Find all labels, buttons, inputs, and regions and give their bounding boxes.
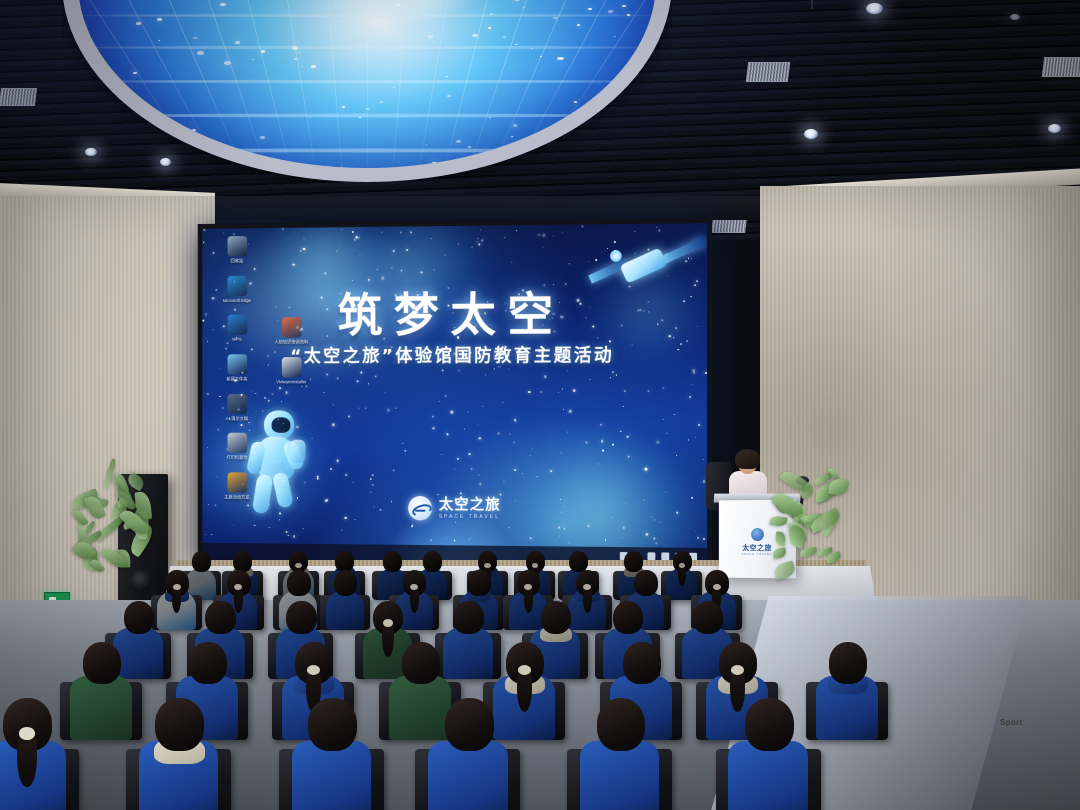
star-point (625, 502, 626, 503)
space-travel-logo-icon (408, 495, 432, 520)
star-point (254, 452, 255, 453)
star-point (365, 408, 366, 409)
star-point (205, 534, 206, 535)
star-point (293, 535, 295, 537)
star-point (673, 337, 674, 338)
star-point (203, 320, 205, 322)
dome-light-point (292, 46, 298, 49)
audience-member (134, 690, 224, 810)
dome-light-point (124, 143, 128, 145)
star-point (645, 468, 647, 470)
potted-plant-stage (770, 470, 840, 580)
microsoft-edge-icon[interactable] (227, 275, 247, 295)
star-point (648, 249, 650, 251)
recycle-bin-icon[interactable] (227, 236, 247, 257)
star-point (340, 327, 342, 329)
star-point (355, 519, 356, 520)
star-point (274, 384, 275, 385)
star-point (634, 231, 635, 232)
dome-light-point (445, 76, 447, 77)
dome-light-point (125, 141, 130, 144)
hair-tie (518, 665, 531, 675)
star-point (689, 396, 691, 398)
star-point (370, 492, 371, 493)
star-point (288, 535, 289, 536)
dome-light-point (342, 106, 345, 108)
star-point (690, 296, 692, 298)
desktop-icon[interactable]: 打印机驱动 (210, 433, 264, 461)
star-point (510, 307, 512, 309)
star-point (249, 282, 251, 284)
star-point (469, 453, 471, 455)
star-point (446, 433, 448, 435)
star-point (234, 379, 236, 381)
star-point (640, 309, 641, 310)
star-point (479, 483, 481, 485)
astronaut-backpack (290, 440, 305, 463)
star-point (622, 537, 623, 538)
star-point (684, 300, 686, 302)
star-point (468, 411, 470, 413)
audience-head (623, 642, 661, 684)
star-point (612, 444, 614, 446)
star-point (401, 362, 402, 363)
star-point (565, 283, 567, 285)
star-point (393, 250, 395, 252)
star-point (657, 324, 658, 325)
star-point (454, 352, 456, 354)
audience-head (205, 601, 235, 635)
desktop-icons-column-2[interactable]: 人防知识培训资料VMwareInstaller (264, 317, 322, 396)
star-point (589, 379, 591, 381)
dome-light-point (531, 48, 533, 49)
plant-leaf (772, 561, 796, 581)
dome-light-point (158, 40, 160, 41)
star-point (355, 236, 357, 238)
star-point (595, 259, 596, 260)
star-point (430, 539, 432, 541)
logo-text-cn: 太空之旅 (439, 497, 501, 512)
star-point (579, 303, 581, 305)
star-point (504, 237, 505, 238)
star-point (444, 395, 446, 397)
star-point (324, 272, 326, 274)
star-point (372, 475, 374, 477)
star-point (432, 416, 434, 418)
hair-tie (173, 584, 181, 590)
ceiling-spotlight (1010, 14, 1020, 20)
star-point (262, 411, 263, 412)
star-point (528, 391, 530, 393)
star-point (646, 533, 648, 535)
star-point (264, 447, 265, 448)
hair-tie (383, 619, 393, 627)
dome-light-point (633, 143, 636, 144)
star-point (339, 292, 341, 294)
star-point (332, 423, 334, 425)
desktop-icon[interactable]: 新建文件夹 (210, 354, 264, 382)
star-point (352, 482, 353, 483)
settings-icon[interactable] (281, 357, 301, 377)
star-point (354, 239, 355, 240)
dome-light-point (488, 27, 491, 28)
star-point (454, 540, 455, 541)
star-point (558, 526, 560, 528)
star-point (423, 315, 424, 316)
star-point (368, 383, 369, 384)
dome-light-point (261, 50, 266, 53)
desktop-icon-label: 回收站 (210, 258, 264, 264)
star-point (338, 248, 339, 249)
star-point (398, 354, 400, 356)
star-point (663, 419, 664, 420)
star-point (237, 408, 239, 410)
hair-tie (713, 584, 721, 590)
dome-light-point (472, 34, 478, 37)
star-point (614, 241, 616, 243)
screen-brand-logo: 太空之旅 SPACE TRAVEL (408, 493, 512, 523)
star-point (698, 424, 700, 426)
star-point (558, 392, 559, 393)
star-point (691, 384, 692, 385)
dome-light-point (577, 24, 580, 26)
plant-leaf (799, 547, 817, 557)
dome-light-point (80, 134, 83, 136)
audience-member (575, 690, 665, 810)
presenter-hair (735, 449, 760, 469)
star-point (514, 469, 516, 471)
dome-light-point (83, 26, 87, 28)
dome-longitude-line (391, 0, 426, 168)
star-point (508, 369, 509, 370)
star-point (475, 348, 476, 350)
star-point (616, 374, 618, 376)
star-point (674, 414, 675, 415)
star-point (445, 537, 446, 538)
star-point (323, 392, 324, 393)
star-point (236, 337, 237, 338)
star-point (688, 439, 690, 441)
document-icon[interactable] (227, 472, 247, 492)
star-point (303, 248, 305, 250)
dome-light-point (553, 17, 557, 19)
star-point (251, 349, 253, 351)
star-point (667, 275, 668, 276)
star-point (695, 437, 696, 438)
star-point (569, 410, 571, 412)
star-point (387, 409, 389, 411)
desktop-icon[interactable]: AI-演示文稿 (210, 394, 264, 422)
ceiling-spotlight (804, 129, 818, 139)
star-point (643, 310, 644, 311)
star-point (296, 326, 298, 328)
hair-tie (19, 727, 36, 740)
star-point (661, 319, 663, 321)
star-point (482, 405, 483, 406)
audience-body (292, 741, 371, 810)
star-point (612, 372, 614, 374)
dome-latitude-line (78, 46, 656, 49)
dome-light-point (152, 117, 158, 120)
dome-light-point (613, 36, 616, 38)
star-point (269, 504, 270, 505)
dome-light-point (192, 129, 196, 131)
astronaut-visor (272, 417, 291, 433)
dome-latitude-line (78, 149, 656, 153)
star-point (531, 448, 532, 449)
led-display-screen[interactable]: 筑梦太空 “太空之旅”体验馆国防教育主题活动 太空之旅 SPACE TRAVEL… (198, 218, 712, 570)
star-point (694, 284, 696, 286)
star-point (279, 387, 281, 389)
star-point (705, 372, 707, 374)
star-point (306, 385, 307, 386)
desktop-icon-label: WPS (210, 337, 264, 343)
dome-light-point (301, 66, 303, 67)
star-point (544, 375, 546, 377)
dome-light-point (588, 8, 592, 10)
star-point (687, 340, 689, 342)
star-point (203, 229, 205, 231)
audience-head (745, 698, 794, 752)
dome-latitude-line (78, 80, 656, 83)
star-point (600, 424, 602, 426)
dome-light-point (573, 157, 577, 159)
audience-body (728, 741, 807, 810)
star-point (497, 432, 499, 434)
hvac-vent-grille (746, 62, 790, 82)
star-point (627, 436, 629, 438)
dome-light-point (260, 136, 265, 139)
star-point (281, 401, 282, 402)
star-point (685, 260, 687, 262)
star-point (353, 357, 354, 358)
star-point (662, 387, 664, 389)
star-point (417, 291, 418, 292)
audience-body (428, 741, 507, 810)
star-point (516, 230, 517, 231)
star-point (529, 537, 531, 539)
star-point (441, 454, 442, 455)
audience-head (829, 642, 867, 684)
audience-head (124, 601, 154, 635)
star-point (404, 450, 406, 452)
star-point (296, 426, 298, 429)
star-point (562, 388, 564, 390)
dome-light-point (602, 93, 604, 94)
desktop-icon[interactable]: Microsoft Edge (210, 275, 264, 303)
star-point (573, 389, 575, 391)
star-point (378, 353, 380, 355)
star-point (326, 501, 327, 502)
dome-light-point (235, 41, 240, 44)
dome-light-point (220, 3, 225, 6)
audience-head (402, 642, 440, 684)
folder-icon[interactable] (227, 354, 247, 374)
dome-light-point (197, 51, 203, 54)
star-point (563, 409, 564, 410)
audience-head (453, 601, 483, 635)
dome-longitude-line (250, 0, 319, 168)
hvac-vent-grille (0, 88, 37, 106)
star-point (553, 313, 555, 315)
audience-head (634, 570, 658, 596)
star-point (212, 252, 214, 254)
dome-light-point (511, 136, 513, 137)
star-point (302, 528, 303, 529)
star-point (514, 419, 516, 421)
star-point (326, 309, 328, 311)
dome-light-point (357, 21, 359, 22)
star-point (255, 393, 256, 394)
star-point (457, 458, 459, 460)
star-point (567, 370, 568, 371)
star-point (445, 254, 446, 255)
star-point (351, 279, 352, 280)
star-point (602, 450, 603, 451)
star-point (211, 534, 212, 535)
star-point (286, 531, 288, 533)
audience-head (445, 698, 494, 752)
star-point (372, 484, 374, 486)
audience-member (66, 636, 136, 756)
desktop-icon[interactable]: VMwareInstaller (264, 357, 319, 385)
star-point (478, 475, 479, 476)
star-point (346, 474, 348, 476)
potted-plant-left (68, 470, 148, 570)
star-point (358, 306, 360, 308)
star-point (400, 232, 401, 233)
dome-light-point (428, 35, 433, 38)
star-point (542, 325, 543, 326)
star-point (479, 437, 481, 439)
star-point (411, 526, 413, 528)
star-point (691, 497, 693, 499)
star-point (454, 468, 455, 469)
star-point (219, 368, 220, 369)
star-point (513, 441, 515, 443)
star-point (234, 281, 235, 282)
hvac-vent-grille (1042, 57, 1080, 77)
audience-head (155, 698, 204, 752)
star-point (442, 370, 444, 372)
desktop-icon[interactable]: 回收站 (210, 236, 264, 264)
dome-light-point (95, 149, 100, 152)
desktop-icon[interactable]: 人防知识培训资料 (264, 317, 319, 345)
star-point (393, 470, 395, 472)
star-point (402, 443, 403, 444)
star-point (485, 374, 486, 375)
hair-tie (307, 665, 320, 675)
star-point (432, 427, 434, 429)
star-point (376, 268, 378, 270)
star-point (464, 428, 465, 429)
logo-text-en: SPACE TRAVEL (439, 514, 501, 519)
desktop-icon-label: 人防知识培训资料 (264, 339, 319, 345)
star-point (543, 234, 545, 236)
audience-head (286, 601, 316, 635)
audience-member (287, 690, 377, 810)
audience-body (70, 676, 132, 740)
dome-light-point (557, 57, 563, 60)
star-point (337, 322, 338, 323)
dome-light-point (252, 59, 254, 60)
star-point (283, 423, 284, 424)
dome-longitude-line (309, 0, 344, 168)
hair-tie (679, 563, 686, 568)
star-point (577, 299, 579, 301)
desktop-icon[interactable]: WPS (210, 315, 264, 343)
star-point (216, 476, 217, 477)
star-point (248, 244, 249, 245)
ceiling-spotlight (866, 3, 883, 14)
star-point (375, 375, 377, 377)
dome-latitude-line (78, 114, 656, 118)
star-point (341, 530, 342, 531)
star-point (540, 391, 542, 393)
audience-head (613, 601, 643, 635)
star-point (536, 476, 537, 477)
dome-light-point (136, 22, 141, 25)
plant-leaf (773, 547, 788, 559)
star-point (357, 380, 359, 382)
star-point (553, 331, 555, 333)
star-point (420, 271, 422, 273)
star-point (703, 459, 704, 460)
dome-light-point (627, 14, 630, 16)
dome-light-point (157, 18, 162, 21)
star-point (458, 525, 459, 526)
star-point (352, 231, 354, 233)
star-point (282, 479, 284, 481)
satellite-antenna (610, 250, 622, 262)
desktop-icon[interactable]: 主题活动方案 (210, 472, 264, 500)
star-point (279, 520, 280, 521)
star-point (317, 478, 319, 480)
star-point (611, 517, 612, 518)
star-point (336, 460, 338, 462)
dome-light-point (489, 117, 491, 118)
dome-light-point (380, 101, 383, 103)
star-point (656, 226, 657, 227)
star-point (677, 349, 679, 351)
dome-light-point (646, 102, 651, 105)
dome-light-point (426, 144, 428, 145)
dome-light-point (447, 95, 450, 97)
printer-icon[interactable] (227, 433, 247, 453)
audience-head (308, 698, 357, 752)
star-point (279, 461, 281, 463)
star-point (451, 411, 453, 413)
star-point (240, 424, 242, 426)
star-point (223, 233, 224, 234)
star-point (457, 336, 459, 338)
star-point (680, 343, 682, 345)
star-point (277, 321, 278, 322)
wps-icon[interactable] (227, 315, 247, 335)
star-point (458, 244, 459, 245)
dome-light-point (381, 39, 383, 40)
star-point (676, 455, 677, 456)
star-point (358, 408, 359, 409)
star-point (267, 355, 269, 357)
star-point (384, 392, 385, 393)
desktop-icons-column-1[interactable]: 回收站Microsoft EdgeWPS新建文件夹AI-演示文稿打印机驱动主题活… (210, 236, 268, 512)
app-icon[interactable] (227, 394, 247, 414)
star-point (477, 238, 478, 239)
star-point (469, 538, 471, 540)
star-point (333, 404, 334, 405)
audience-head (189, 642, 227, 684)
